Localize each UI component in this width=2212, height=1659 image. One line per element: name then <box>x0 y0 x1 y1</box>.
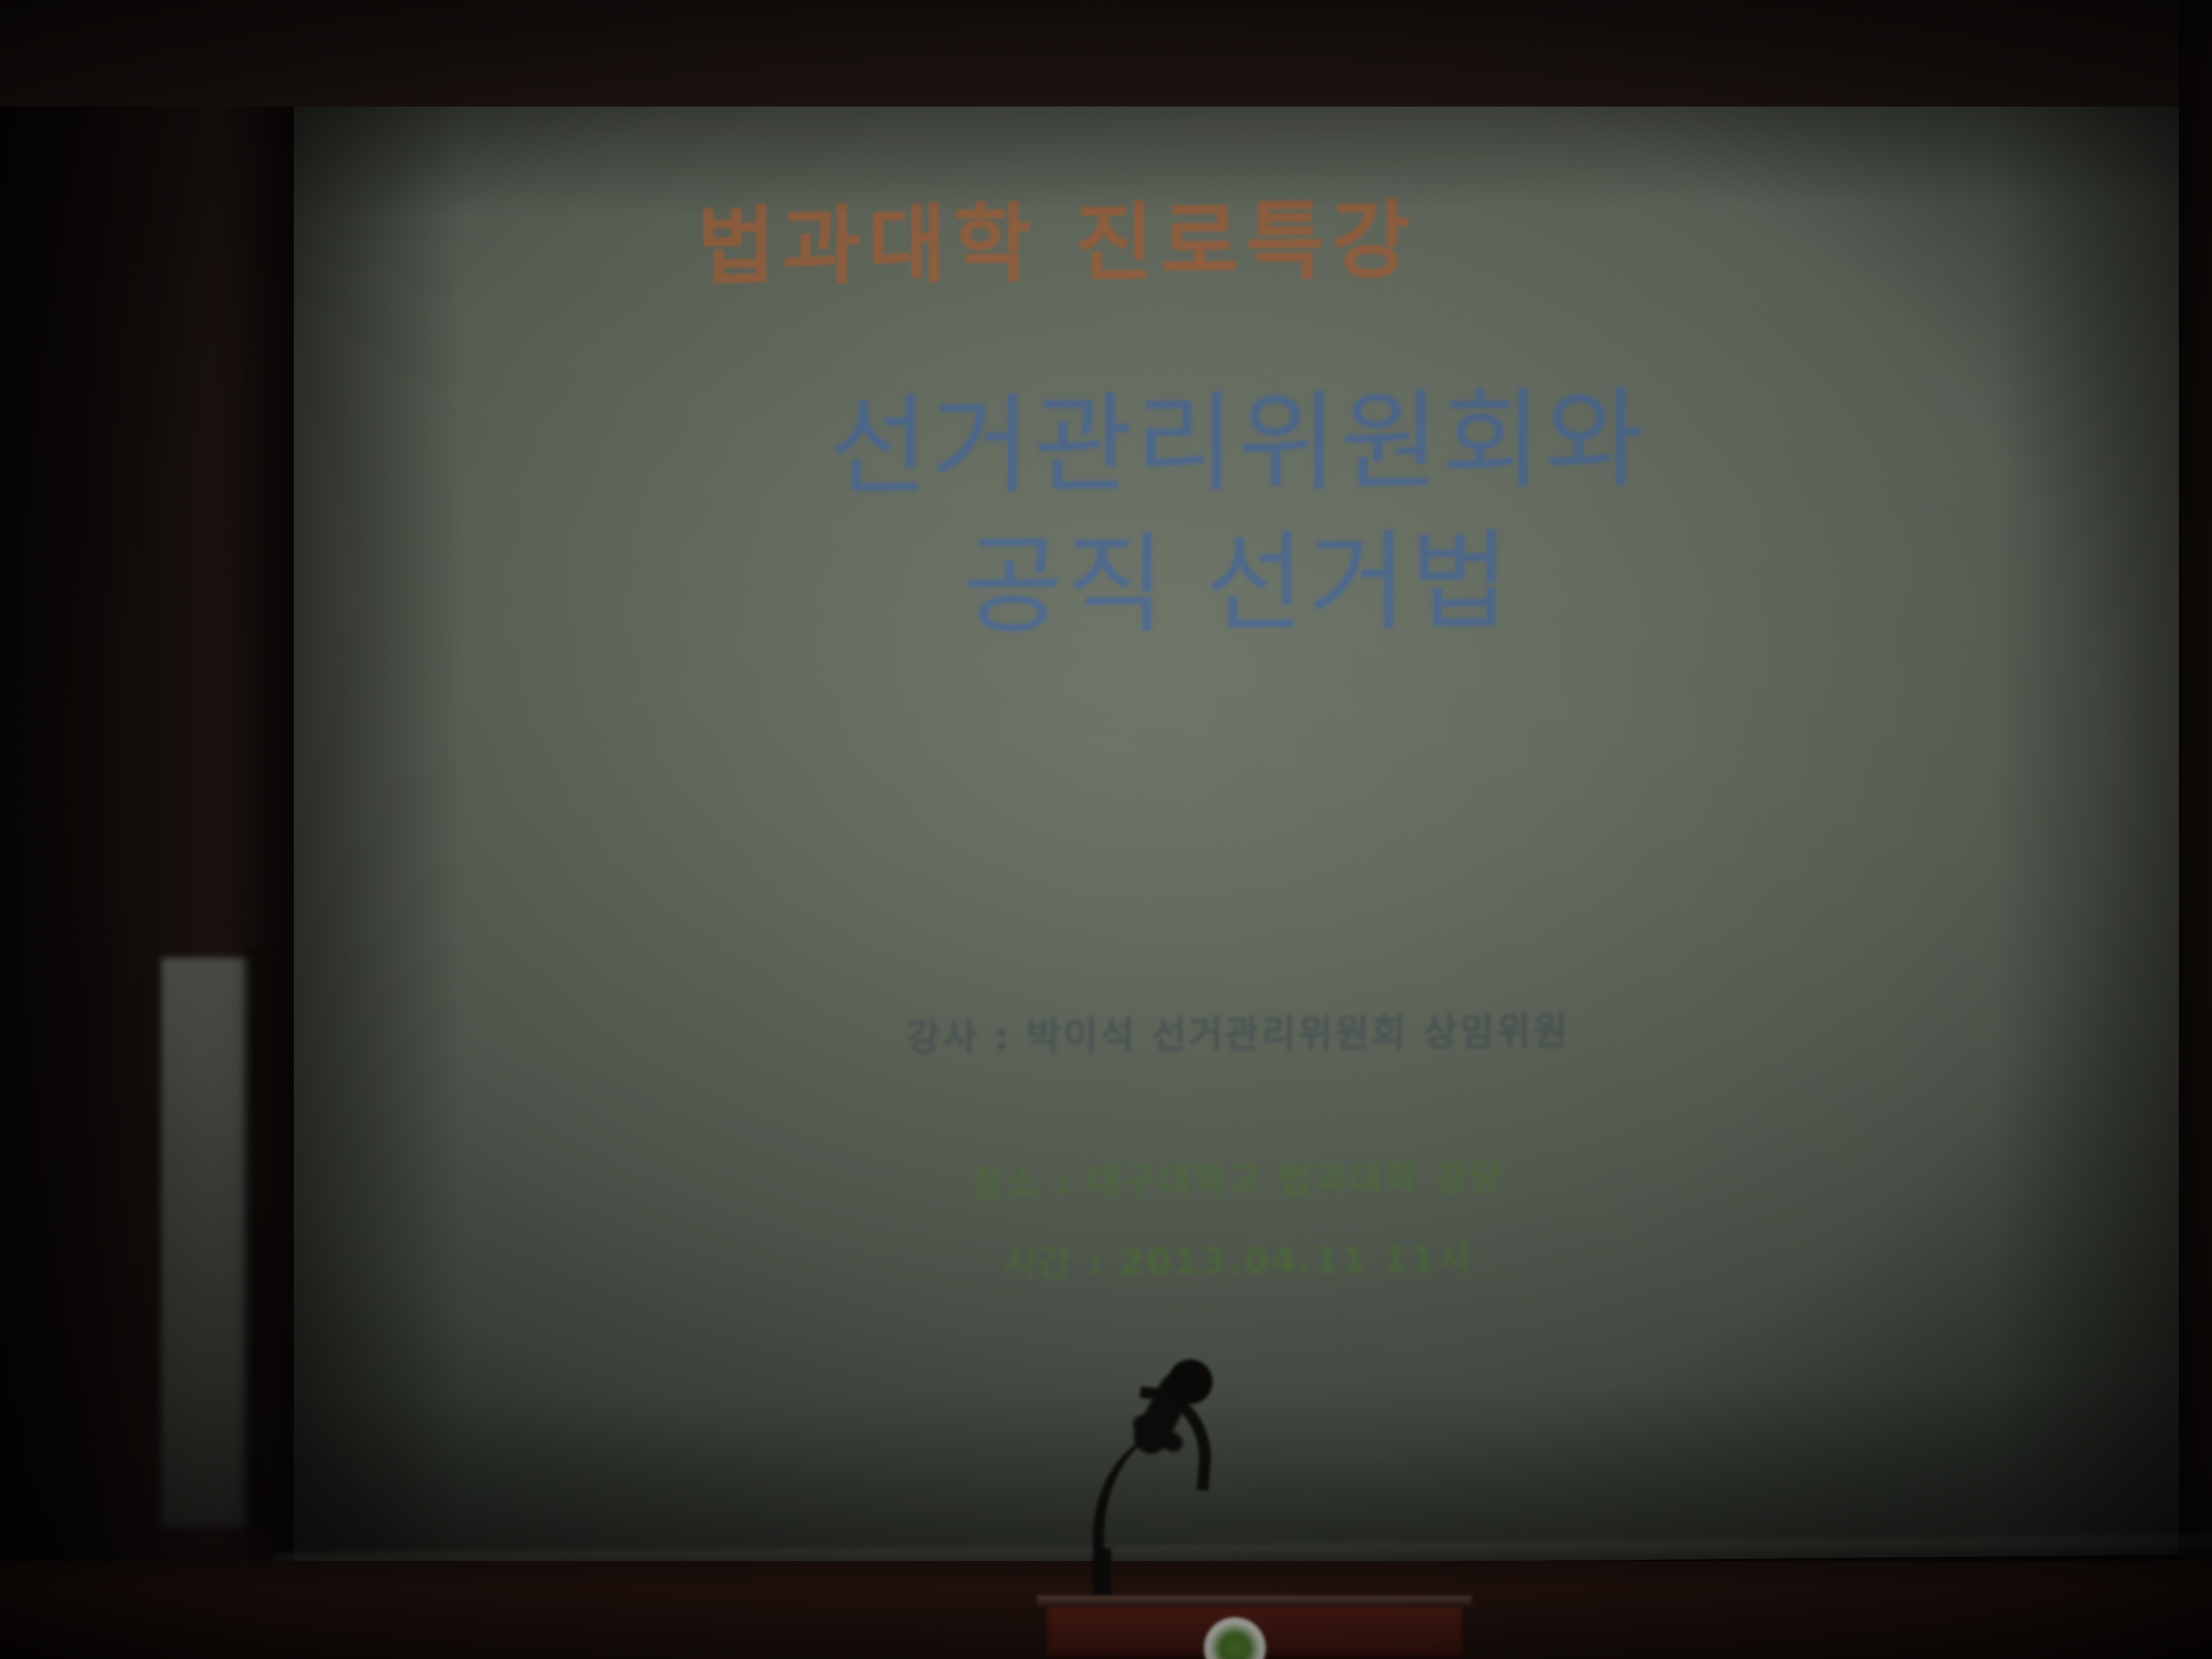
top-wall-dark-area <box>0 0 2212 107</box>
presentation-slide: 법과대학 진로특강 선거관리위원회와 공직 선거법 강사 : 박이석 선거관리위… <box>294 84 2182 1573</box>
slide-header-text: 법과대학 진로특강 <box>697 171 1417 301</box>
slide-place-text: 장소 : 대구대학교 법과대학 강당 <box>294 1143 2182 1213</box>
lecture-hall-photo: 법과대학 진로특강 선거관리위원회와 공직 선거법 강사 : 박이석 선거관리위… <box>0 0 2212 1659</box>
left-wall-light-panel <box>161 958 251 1527</box>
slide-speaker-text: 강사 : 박이석 선거관리위원회 상임위원 <box>294 995 2182 1067</box>
slide-title-block: 선거관리위원회와 공직 선거법 <box>294 365 2182 664</box>
left-wall-dark-area <box>0 0 144 1659</box>
left-wall-panel-shadow <box>245 950 274 1534</box>
projection-screen: 법과대학 진로특강 선거관리위원회와 공직 선거법 강사 : 박이석 선거관리위… <box>294 84 2182 1573</box>
podium-top-surface <box>1037 1596 1472 1607</box>
right-wall-dark-area <box>2179 0 2212 1659</box>
slide-title-line-1: 선거관리위원회와 <box>294 365 2182 523</box>
slide-title-line-2: 공직 선거법 <box>294 505 2182 664</box>
slide-time-text: 시간 : 2013.04.11 11시 <box>294 1223 2182 1293</box>
